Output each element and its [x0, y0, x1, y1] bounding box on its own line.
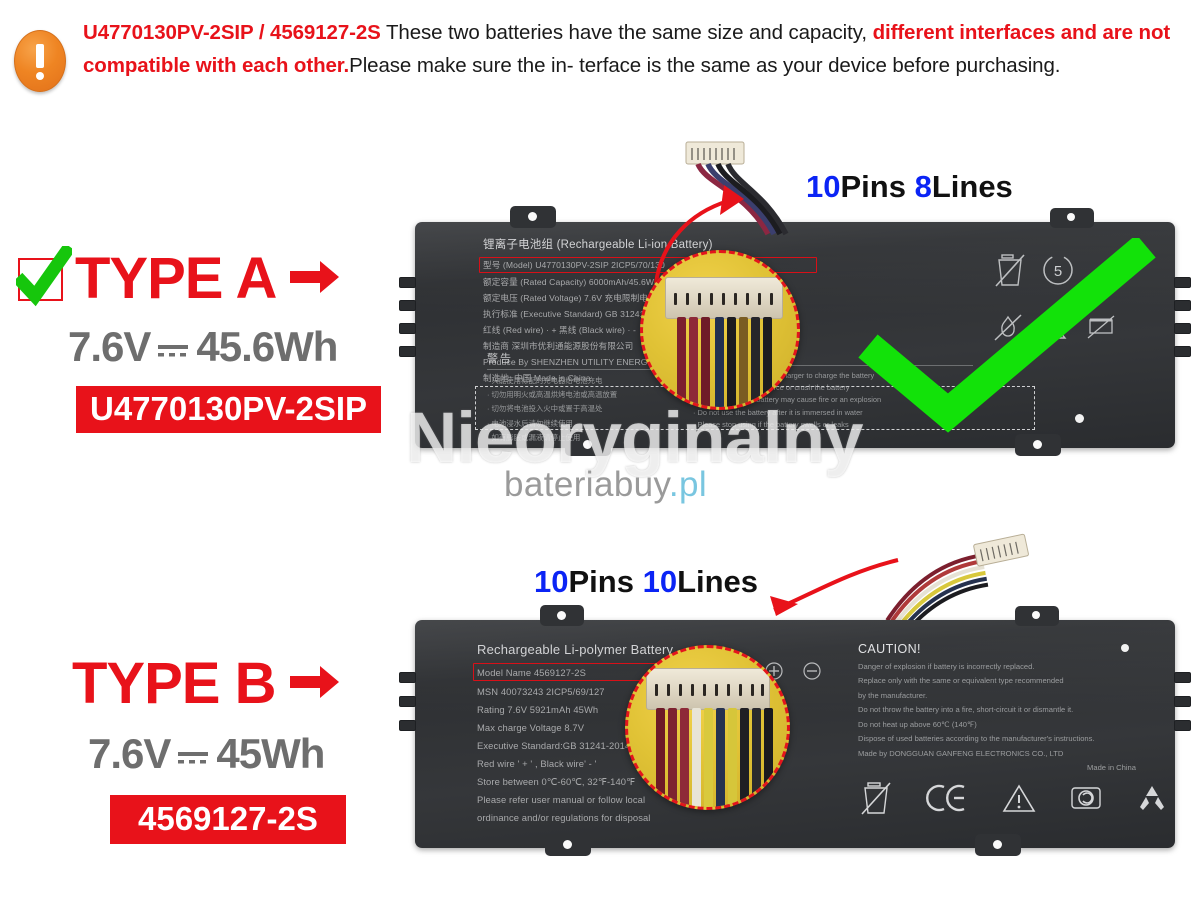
type-b-heading: TYPE B [72, 655, 346, 713]
mount-lug [510, 206, 556, 228]
type-b-spec-line: 7.6V 45Wh [88, 733, 346, 775]
connector-housing [665, 277, 783, 319]
warning-bullet: · 如有膨胀或漏液请停止使用 [487, 432, 673, 443]
type-a-pins-lines-label: 10Pins 8Lines [806, 169, 1013, 205]
type-b-pins-number: 10 [534, 564, 568, 599]
type-a-lines-number: 8 [915, 169, 932, 204]
crossed-out-wheelie-bin-icon [860, 780, 892, 821]
type-b-pins-lines-label: 10Pins 10Lines [534, 564, 758, 600]
type-b-symbol-row [860, 780, 1184, 821]
type-b-lines-word: Lines [677, 564, 758, 599]
header-model-pair: U4770130PV-2SIP / 4569127-2S [83, 21, 381, 44]
wire [728, 708, 737, 810]
side-tab [399, 672, 416, 683]
warning-bullet: · 只能使用标配的充电器给电池充电 [487, 375, 673, 386]
header-warning-bar: U4770130PV-2SIP / 4569127-2S These two b… [0, 0, 1200, 128]
type-b-pins-word: Pins [568, 564, 633, 599]
ce-mark-icon [926, 783, 968, 818]
wire [763, 317, 772, 410]
wire [701, 317, 710, 410]
crossed-out-wheelie-bin-icon [995, 252, 1025, 293]
dc-current-icon [156, 326, 190, 368]
right-arrow-icon [290, 664, 340, 705]
right-arrow-icon [290, 259, 340, 300]
type-a-symbol-row-bottom [993, 312, 1133, 347]
mount-lug [1015, 434, 1061, 456]
recycle-arrows-icon [1136, 783, 1168, 818]
li-ion-recycle-icon [1070, 782, 1102, 819]
type-a-caption-block: TYPE A 7.6V 45.6Wh U4770130PV-2SIP [18, 250, 381, 433]
header-line3: terface is the same as your device befor… [579, 54, 1060, 77]
side-tab [1174, 323, 1191, 334]
caution-line: Do not throw the battery into a fire, sh… [858, 705, 1158, 714]
wire [692, 708, 701, 810]
wire [740, 708, 749, 810]
side-tab [1174, 696, 1191, 707]
mount-lug [545, 834, 591, 856]
caution-line: Dispose of used batteries according to t… [858, 734, 1158, 743]
type-a-heading: TYPE A [18, 250, 381, 308]
type-b-connector-cable [880, 520, 1100, 630]
type-a-connector-magnifier [640, 250, 800, 410]
side-tab [1174, 300, 1191, 311]
type-a-model-chip: U4770130PV-2SIP [76, 386, 381, 433]
type-b-caution-block: CAUTION! Danger of explosion if battery … [858, 642, 1158, 772]
warning-exclamation-icon [12, 22, 68, 100]
screw-hole [1121, 644, 1129, 652]
type-b-label-title: Rechargeable Li-polymer Battery [477, 642, 807, 659]
no-crush-icon [1039, 312, 1069, 347]
type-b-lines-number: 10 [643, 564, 677, 599]
wire [739, 317, 748, 410]
type-a-capacity: 45.6Wh [196, 326, 337, 368]
wire [689, 317, 698, 410]
wire [751, 317, 760, 410]
recycle-5-years-icon: 5 [1041, 253, 1075, 292]
side-tab [399, 346, 416, 357]
svg-text:5: 5 [1054, 263, 1062, 280]
dc-current-icon [176, 733, 210, 775]
no-disassemble-icon [1085, 312, 1117, 347]
side-tab [1174, 277, 1191, 288]
type-a-spec-line: 7.6V 45.6Wh [68, 326, 381, 368]
type-b-title: TYPE B [72, 655, 276, 713]
caution-line: Danger of explosion if battery is incorr… [858, 662, 1158, 671]
caution-line: Made by DONGGUAN GANFENG ELECTRONICS CO.… [858, 749, 1158, 758]
mount-lug [975, 834, 1021, 856]
type-a-symbol-row-top: 5 [995, 252, 1091, 293]
type-a-lines-word: Lines [932, 169, 1013, 204]
mount-lug [1015, 606, 1059, 626]
side-tab [399, 277, 416, 288]
wire [715, 317, 724, 410]
type-b-connector-magnifier [625, 645, 790, 810]
wire [656, 708, 665, 810]
header-line2-rest: Please make sure the in- [349, 54, 573, 77]
side-tab [1174, 672, 1191, 683]
type-b-model-chip: 4569127-2S [110, 795, 346, 844]
wire [727, 317, 736, 410]
type-b-battery-photo: Rechargeable Li-polymer Battery Model Na… [415, 620, 1175, 848]
side-tab [1174, 346, 1191, 357]
type-a-pins-number: 10 [806, 169, 840, 204]
mount-lug [1050, 208, 1094, 228]
no-fire-icon [993, 312, 1023, 347]
warning-triangle-icon [1002, 783, 1036, 818]
caution-line: Replace only with the same or equivalent… [858, 676, 1158, 685]
type-b-caption-block: TYPE B 7.6V 45Wh 4569127-2S [72, 655, 346, 844]
minus-terminal-icon [803, 662, 821, 685]
watermark-site-tld: .pl [669, 465, 707, 504]
green-check-icon [18, 258, 63, 301]
side-tab [399, 300, 416, 311]
wire [680, 708, 689, 810]
wire [752, 708, 761, 810]
wire [764, 708, 773, 810]
connector-housing [646, 668, 770, 710]
watermark-site: bateriabuy.pl [504, 465, 707, 505]
type-b-caution-title: CAUTION! [858, 642, 1158, 656]
type-a-title: TYPE A [75, 250, 276, 308]
side-tab [1174, 720, 1191, 731]
type-b-label-row: ordinance and/or regulations for disposa… [477, 812, 807, 824]
side-tab [399, 720, 416, 731]
side-tab [399, 696, 416, 707]
caution-line: by the manufacturer. [858, 691, 1158, 700]
type-a-label-title: 锂离子电池组 (Rechargeable Li-ion Battery) [483, 238, 903, 253]
screw-hole [1075, 414, 1084, 423]
type-b-voltage: 7.6V [88, 733, 170, 775]
type-b-capacity: 45Wh [216, 733, 324, 775]
header-line1-rest: These two batteries have the same size a… [386, 21, 867, 44]
watermark-site-name: bateriabuy [504, 465, 669, 504]
type-a-pins-word: Pins [840, 169, 905, 204]
type-a-voltage: 7.6V [68, 326, 150, 368]
caution-line: Do not heat up above 60℃ (140℉) [858, 720, 1158, 729]
mount-lug [540, 605, 584, 626]
caution-made-in: Made in China [858, 763, 1158, 772]
wire [716, 708, 725, 810]
header-warning-text: U4770130PV-2SIP / 4569127-2S These two b… [83, 16, 1173, 82]
side-tab [399, 323, 416, 334]
wire [704, 708, 713, 810]
wire [668, 708, 677, 810]
wire [677, 317, 686, 410]
type-b-callout-arrow-icon [770, 548, 920, 618]
